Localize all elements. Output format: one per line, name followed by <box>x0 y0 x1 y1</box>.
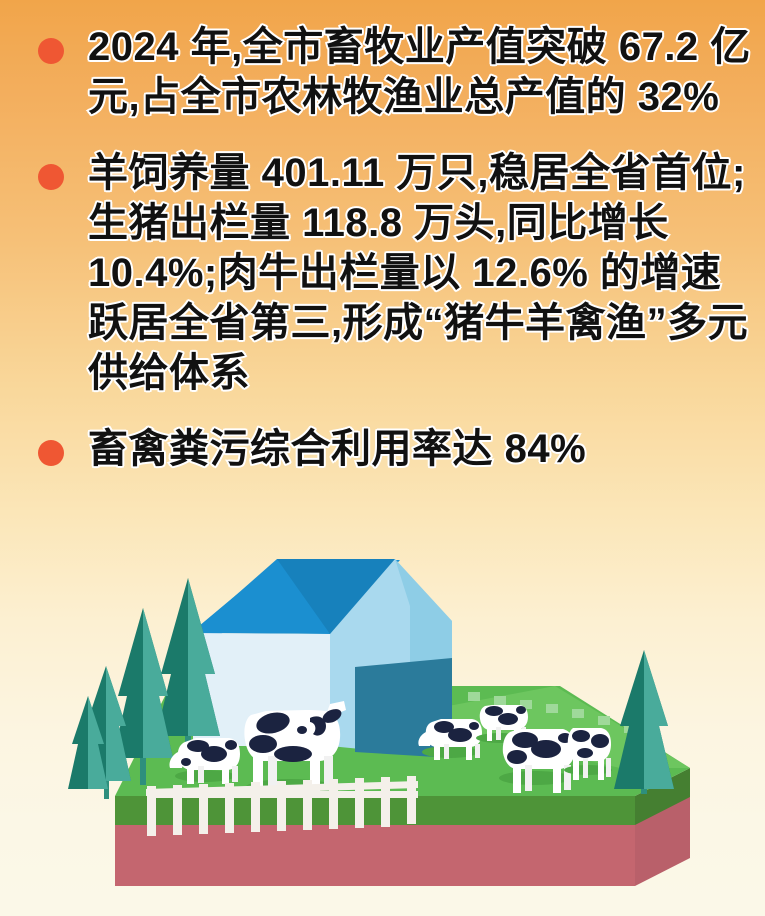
cow-spot <box>572 730 590 742</box>
bullet-text: 羊饲养量 401.11 万只,稳居全省首位;生猪出栏量 118.8 万头,同比增… <box>88 148 751 398</box>
cow-spot <box>249 735 277 753</box>
fence-post <box>277 781 286 831</box>
cow-spot <box>469 722 479 730</box>
bullet-text: 2024 年,全市畜牧业产值突破 67.2 亿元,占全市农林牧渔业总产值的 32… <box>88 22 751 122</box>
bullet-dot-icon <box>38 440 64 466</box>
fence-post <box>173 785 182 835</box>
cow-leg <box>496 727 501 740</box>
cow-spot <box>531 740 561 758</box>
bullet-item-livestock-output-value: 2024 年,全市畜牧业产值突破 67.2 亿元,占全市农林牧渔业总产值的 32… <box>0 22 765 122</box>
fence-post <box>303 780 312 830</box>
cow-spot <box>591 734 609 748</box>
cow-spot <box>485 706 503 716</box>
fence-post <box>251 782 260 832</box>
platform-grass-edge <box>115 796 635 825</box>
cow-leg <box>573 758 579 780</box>
cow-spot <box>274 746 312 762</box>
cow-spot <box>516 706 526 714</box>
fence-post <box>329 779 338 829</box>
cow-leg <box>598 758 604 780</box>
cow <box>564 728 612 780</box>
infographic-poster: 2024 年,全市畜牧业产值突破 67.2 亿元,占全市农林牧渔业总产值的 32… <box>0 0 765 916</box>
cow-spot <box>225 740 237 750</box>
cow-leg <box>232 766 238 782</box>
cow-leg <box>513 765 521 793</box>
bullet-text: 畜禽粪污综合利用率达 84% <box>88 424 751 474</box>
cow-leg <box>444 744 449 759</box>
cypress-tree <box>614 650 674 794</box>
cow-leg <box>187 766 194 784</box>
cow-leg <box>198 766 204 783</box>
bullet-dot-icon <box>38 164 64 190</box>
fence-post <box>225 783 234 833</box>
fence-post <box>355 778 364 828</box>
bullet-list: 2024 年,全市畜牧业产值突破 67.2 亿元,占全市农林牧渔业总产值的 32… <box>0 0 765 500</box>
bullet-dot-icon <box>38 38 64 64</box>
cow-spot <box>577 748 593 758</box>
cow-leg <box>553 765 561 793</box>
cow-leg <box>434 744 440 760</box>
bullet-item-livestock-volumes: 羊饲养量 401.11 万只,稳居全省首位;生猪出栏量 118.8 万头,同比增… <box>0 148 765 398</box>
cow-leg <box>475 744 480 758</box>
fence-post <box>407 776 416 824</box>
cow-spot <box>201 746 227 762</box>
cow-leg <box>268 756 277 790</box>
cow-spot <box>181 758 191 766</box>
cow-spot <box>498 713 518 725</box>
platform-base <box>115 824 635 886</box>
cow-leg <box>466 744 472 760</box>
cow-spot <box>448 728 472 742</box>
cow <box>418 719 482 760</box>
cow-leg <box>583 758 588 778</box>
cow-leg <box>222 766 229 784</box>
fence-post <box>199 784 208 834</box>
cow-leg <box>606 758 611 777</box>
livestock-farm-illustration <box>0 546 765 916</box>
tree-group-right <box>614 650 674 794</box>
cow-spot <box>507 750 527 764</box>
cow-leg <box>487 727 492 741</box>
cow-leg <box>525 765 532 791</box>
fence-post <box>381 777 390 827</box>
bullet-item-manure-utilization: 畜禽粪污综合利用率达 84% <box>0 424 765 474</box>
fence-post <box>147 786 156 836</box>
cow-spot <box>297 726 307 734</box>
